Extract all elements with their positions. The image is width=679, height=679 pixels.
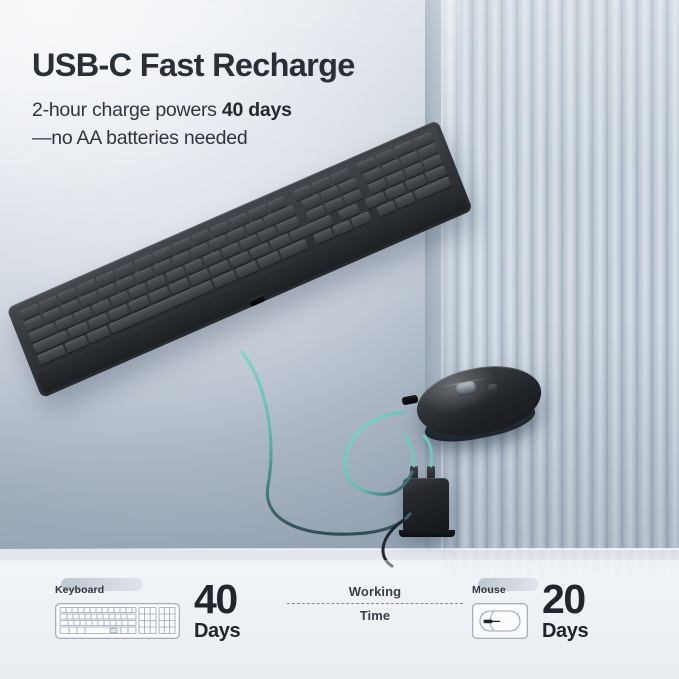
mouse-cable	[345, 412, 412, 494]
keyboard-stat-unit: Days	[194, 620, 240, 643]
keyboard-tag-label: Keyboard	[55, 584, 104, 596]
working-time-dashed-line	[287, 603, 463, 604]
working-time-line2: Time	[287, 608, 463, 623]
product-marketing-image: USB-C Fast Recharge 2-hour charge powers…	[0, 0, 679, 679]
wireless-mouse	[416, 368, 542, 448]
stat-keyboard: Keyboard	[55, 580, 240, 644]
mouse-tag-label: Mouse	[472, 584, 506, 596]
usb-c-charging-brick	[403, 478, 449, 533]
brick-lead-left	[404, 434, 414, 466]
mouse-stat-value: 20	[542, 581, 588, 619]
stats-bar: Keyboard	[0, 570, 679, 650]
mouse-stat-value-block: 20 Days	[542, 581, 588, 643]
page-title: USB-C Fast Recharge	[32, 48, 432, 83]
mouse-tag: Mouse	[472, 580, 528, 598]
keyboard-icon	[55, 603, 180, 644]
mouse-icon	[472, 603, 528, 644]
subheadline-line1-prefix: 2-hour charge powers	[32, 99, 222, 121]
subheadline-line1-bold: 40 days	[222, 99, 292, 121]
mouse-usb-c-port	[401, 395, 418, 406]
keyboard-stat-value: 40	[194, 581, 240, 619]
keyboard-body	[6, 120, 473, 399]
keyboard-stat-value-block: 40 Days	[194, 581, 240, 643]
charger-base	[399, 530, 455, 537]
stat-mouse: Mouse 20 Days	[472, 580, 588, 644]
floor-horizon-line	[0, 548, 679, 550]
working-time-divider: Working Time	[287, 584, 463, 623]
keyboard-keybed	[12, 125, 460, 371]
subheadline-line2: —no AA batteries needed	[32, 127, 247, 149]
working-time-line1: Working	[287, 584, 463, 599]
keyboard-tag: Keyboard	[55, 580, 180, 598]
mouse-stat-unit: Days	[542, 620, 588, 643]
